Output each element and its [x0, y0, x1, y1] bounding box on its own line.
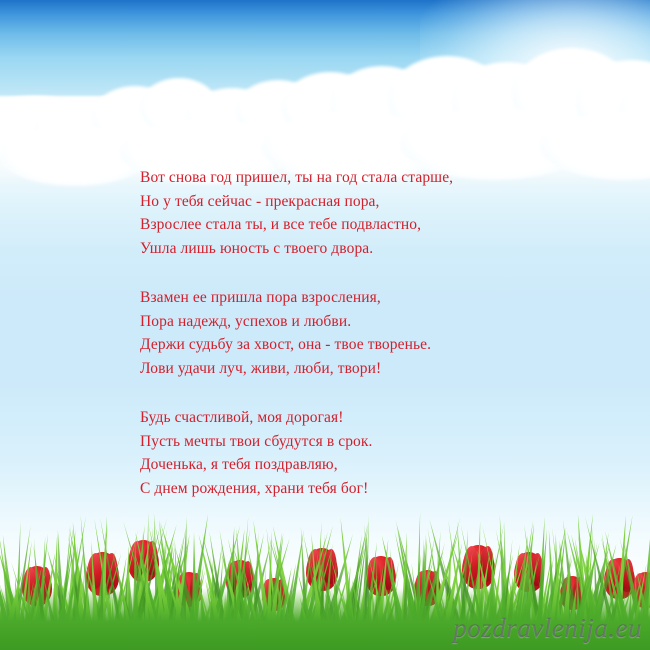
poem-line: Пусть мечты твои сбудутся в срок. — [140, 430, 560, 454]
poem-line: Держи судьбу за хвост, она - твое творен… — [140, 333, 560, 357]
greeting-card: Вот снова год пришел, ты на год стала ст… — [0, 0, 650, 650]
poem-stanza: Взамен ее пришла пора взросления,Пора на… — [140, 286, 560, 380]
poem-line: Лови удачи луч, живи, люби, твори! — [140, 357, 560, 381]
poem-line: Но у тебя сейчас - прекрасная пора, — [140, 190, 560, 214]
poem-line: Пора надежд, успехов и любви. — [140, 310, 560, 334]
poem-line: Взрослее стала ты, и все тебе подвластно… — [140, 213, 560, 237]
poem-line: Доченька, я тебя поздравляю, — [140, 453, 560, 477]
poem-line: Вот снова год пришел, ты на год стала ст… — [140, 166, 560, 190]
poem-line: Ушла лишь юность с твоего двора. — [140, 237, 560, 261]
poem-text-block: Вот снова год пришел, ты на год стала ст… — [140, 166, 560, 500]
poem-line: Взамен ее пришла пора взросления, — [140, 286, 560, 310]
site-watermark: pozdravlenija.eu — [453, 613, 642, 644]
poem-line: Будь счастливой, моя дорогая! — [140, 406, 560, 430]
poem-stanza: Вот снова год пришел, ты на год стала ст… — [140, 166, 560, 260]
